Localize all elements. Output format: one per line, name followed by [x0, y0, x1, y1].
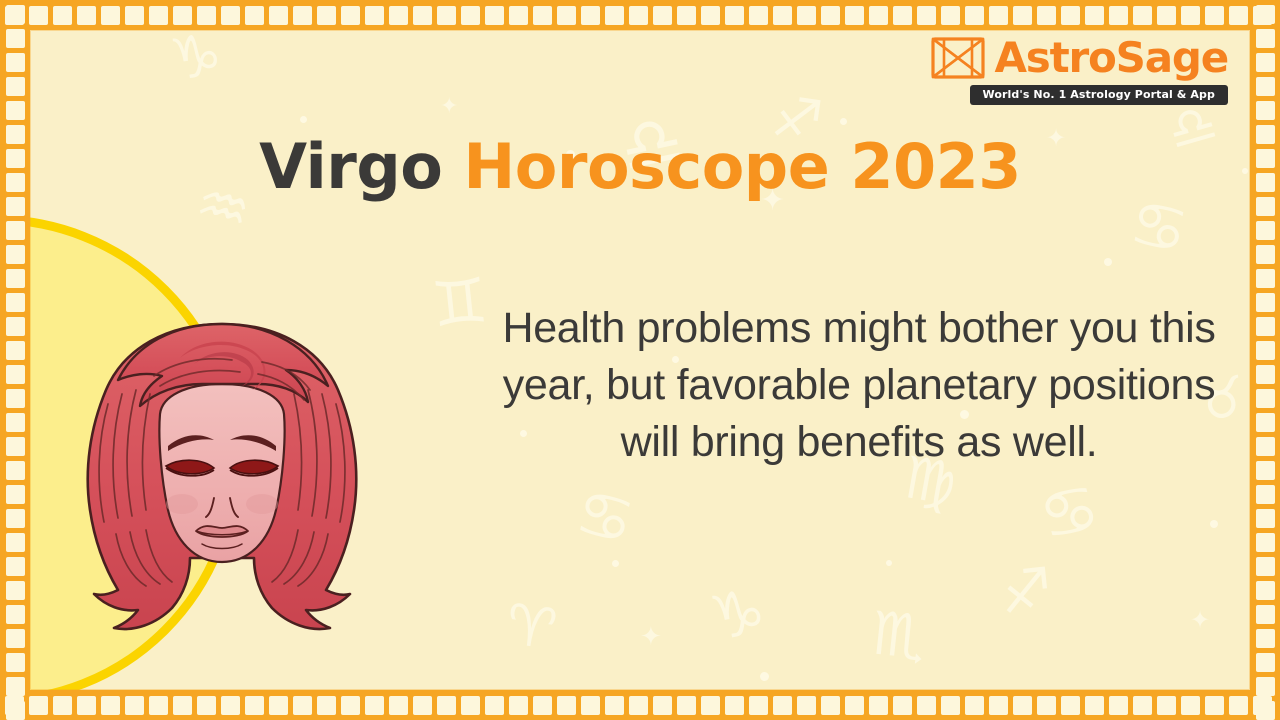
- frame-perforation: [653, 6, 672, 25]
- frame-perforation: [1256, 581, 1275, 600]
- frame-perforation: [149, 6, 168, 25]
- frame-perforation: [1085, 696, 1104, 715]
- frame-perforation: [1253, 696, 1272, 715]
- frame-perforation: [1256, 701, 1275, 720]
- frame-perforation: [1157, 6, 1176, 25]
- frame-perforation: [533, 696, 552, 715]
- frame-perforation: [797, 696, 816, 715]
- frame-perforation: [1181, 696, 1200, 715]
- frame-perforation: [1037, 6, 1056, 25]
- frame-perforation: [557, 6, 576, 25]
- frame-perforation: [29, 6, 48, 25]
- frame-perforation: [6, 5, 25, 24]
- frame-perforation: [1229, 696, 1248, 715]
- frame-perforation: [6, 53, 25, 72]
- frame-perforation: [893, 6, 912, 25]
- frame-perforation: [485, 6, 504, 25]
- frame-perforation: [1256, 77, 1275, 96]
- frame-perforation: [1256, 293, 1275, 312]
- astrosage-logo[interactable]: AstroSage World's No. 1 Astrology Portal…: [932, 36, 1228, 105]
- frame-perforation: [269, 6, 288, 25]
- horoscope-summary-text: Health problems might bother you this ye…: [498, 300, 1220, 470]
- page-title: Virgo Horoscope 2023: [0, 136, 1280, 198]
- frame-perforation: [1229, 6, 1248, 25]
- frame-perforation: [317, 6, 336, 25]
- frame-perforation: [413, 6, 432, 25]
- frame-perforation: [1256, 413, 1275, 432]
- aries-watermark: ♈: [502, 597, 560, 659]
- frame-perforation: [989, 696, 1008, 715]
- frame-perforation: [173, 6, 192, 25]
- frame-perforation: [341, 696, 360, 715]
- frame-perforation: [1256, 365, 1275, 384]
- frame-perforation: [1256, 437, 1275, 456]
- frame-perforation: [1256, 653, 1275, 672]
- frame-perforation: [821, 6, 840, 25]
- frame-perforation: [1061, 696, 1080, 715]
- frame-perforation: [1256, 221, 1275, 240]
- frame-perforation: [437, 696, 456, 715]
- frame-perforation: [941, 6, 960, 25]
- frame-perforation: [365, 696, 384, 715]
- frame-perforation: [677, 6, 696, 25]
- frame-perforation: [1256, 341, 1275, 360]
- frame-perforation: [821, 696, 840, 715]
- frame-perforation: [605, 6, 624, 25]
- frame-perforation: [1256, 509, 1275, 528]
- frame-perforation: [725, 696, 744, 715]
- frame-perforation: [6, 29, 25, 48]
- frame-perforation: [1085, 6, 1104, 25]
- frame-perforation: [461, 6, 480, 25]
- frame-perforation: [653, 696, 672, 715]
- scorpio-watermark: ♏: [869, 603, 929, 668]
- frame-perforation: [749, 696, 768, 715]
- frame-perforation: [509, 6, 528, 25]
- frame-perforation: [1109, 6, 1128, 25]
- frame-perforation: [989, 6, 1008, 25]
- frame-perforation: [1133, 6, 1152, 25]
- frame-perforation: [917, 696, 936, 715]
- frame-perforation: [701, 696, 720, 715]
- frame-perforation: [749, 6, 768, 25]
- watermark-dot: [1104, 258, 1112, 266]
- perforation-row-right: [1250, 5, 1280, 715]
- sagittarius-watermark: ♐: [997, 559, 1055, 622]
- frame-perforation: [413, 696, 432, 715]
- star-watermark: ✦: [440, 96, 458, 118]
- frame-perforation: [581, 696, 600, 715]
- frame-perforation: [893, 696, 912, 715]
- cancer-watermark: ♋: [1033, 474, 1106, 552]
- frame-perforation: [5, 6, 24, 25]
- frame-perforation: [941, 696, 960, 715]
- frame-perforation: [1256, 53, 1275, 72]
- frame-perforation: [1109, 696, 1128, 715]
- frame-perforation: [797, 6, 816, 25]
- star-watermark: ✦: [1190, 608, 1210, 632]
- frame-perforation: [773, 696, 792, 715]
- frame-perforation: [869, 696, 888, 715]
- frame-perforation: [1256, 485, 1275, 504]
- frame-perforation: [1256, 461, 1275, 480]
- frame-perforation: [1157, 696, 1176, 715]
- frame-perforation: [965, 6, 984, 25]
- frame-perforation: [341, 6, 360, 25]
- frame-perforation: [485, 696, 504, 715]
- frame-perforation: [1181, 6, 1200, 25]
- frame-perforation: [1256, 629, 1275, 648]
- virgo-maiden-illustration: [62, 318, 382, 648]
- watermark-dot: [840, 118, 847, 125]
- title-sign: Virgo: [259, 130, 442, 203]
- frame-perforation: [1256, 605, 1275, 624]
- frame-perforation: [1013, 696, 1032, 715]
- frame-perforation: [461, 696, 480, 715]
- frame-perforation: [1256, 533, 1275, 552]
- frame-perforation: [1205, 6, 1224, 25]
- frame-perforation: [1256, 245, 1275, 264]
- frame-perforation: [1256, 677, 1275, 696]
- frame-perforation: [1061, 6, 1080, 25]
- frame-perforation: [1256, 269, 1275, 288]
- frame-perforation: [1133, 696, 1152, 715]
- frame-perforation: [1256, 317, 1275, 336]
- cancer-watermark: ♋: [1125, 192, 1193, 265]
- frame-perforation: [101, 6, 120, 25]
- frame-perforation: [581, 6, 600, 25]
- frame-perforation: [629, 696, 648, 715]
- frame-perforation: [1013, 6, 1032, 25]
- frame-perforation: [1256, 557, 1275, 576]
- frame-perforation: [773, 6, 792, 25]
- frame-perforation: [725, 6, 744, 25]
- frame-perforation: [557, 696, 576, 715]
- cancer-watermark: ♋: [570, 481, 639, 556]
- logo-tagline: World's No. 1 Astrology Portal & App: [970, 85, 1228, 105]
- frame-perforation: [389, 6, 408, 25]
- watermark-dot: [1210, 520, 1218, 528]
- frame-perforation: [1256, 29, 1275, 48]
- frame-perforation: [317, 696, 336, 715]
- frame-perforation: [845, 6, 864, 25]
- frame-perforation: [1037, 696, 1056, 715]
- title-rest-text: Horoscope 2023: [463, 130, 1020, 203]
- frame-perforation: [437, 6, 456, 25]
- frame-perforation: [1256, 101, 1275, 120]
- capricorn-watermark: ♑: [705, 580, 771, 651]
- frame-perforation: [245, 696, 264, 715]
- frame-perforation: [845, 696, 864, 715]
- frame-perforation: [965, 696, 984, 715]
- frame-perforation: [77, 6, 96, 25]
- frame-perforation: [269, 696, 288, 715]
- horoscope-poster: ♎♐♊♒♑♋♋♋♑♏♐♍♎♈♉✦✦✦✦✦: [0, 0, 1280, 720]
- frame-perforation: [389, 696, 408, 715]
- title-rest: [442, 130, 463, 203]
- frame-perforation: [629, 6, 648, 25]
- frame-perforation: [293, 6, 312, 25]
- frame-perforation: [869, 6, 888, 25]
- frame-perforation: [1253, 6, 1272, 25]
- watermark-dot: [886, 560, 892, 566]
- watermark-dot: [760, 672, 769, 681]
- frame-perforation: [701, 6, 720, 25]
- frame-perforation: [293, 696, 312, 715]
- frame-band-right: [1250, 0, 1280, 720]
- frame-perforation: [533, 6, 552, 25]
- logo-wordmark: AstroSage: [995, 37, 1229, 79]
- frame-perforation: [677, 696, 696, 715]
- frame-perforation: [1256, 5, 1275, 24]
- capricorn-watermark: ♑: [166, 25, 226, 90]
- frame-perforation: [6, 77, 25, 96]
- frame-perforation: [53, 6, 72, 25]
- frame-band-top: [0, 0, 1280, 30]
- watermark-dot: [612, 560, 619, 567]
- frame-perforation: [917, 6, 936, 25]
- perforation-row-top: [5, 0, 1275, 30]
- watermark-dot: [300, 116, 307, 123]
- frame-perforation: [197, 6, 216, 25]
- kundali-chart-icon: [930, 36, 986, 80]
- frame-perforation: [1205, 696, 1224, 715]
- frame-perforation: [221, 6, 240, 25]
- frame-perforation: [605, 696, 624, 715]
- frame-perforation: [1256, 389, 1275, 408]
- frame-perforation: [1256, 197, 1275, 216]
- star-watermark: ✦: [640, 624, 662, 650]
- logo-main-row: AstroSage: [930, 36, 1229, 80]
- frame-perforation: [125, 6, 144, 25]
- frame-perforation: [245, 6, 264, 25]
- frame-perforation: [509, 696, 528, 715]
- gemini-watermark: ♊: [429, 269, 491, 336]
- frame-perforation: [6, 101, 25, 120]
- frame-perforation: [365, 6, 384, 25]
- frame-perforation: [6, 197, 25, 216]
